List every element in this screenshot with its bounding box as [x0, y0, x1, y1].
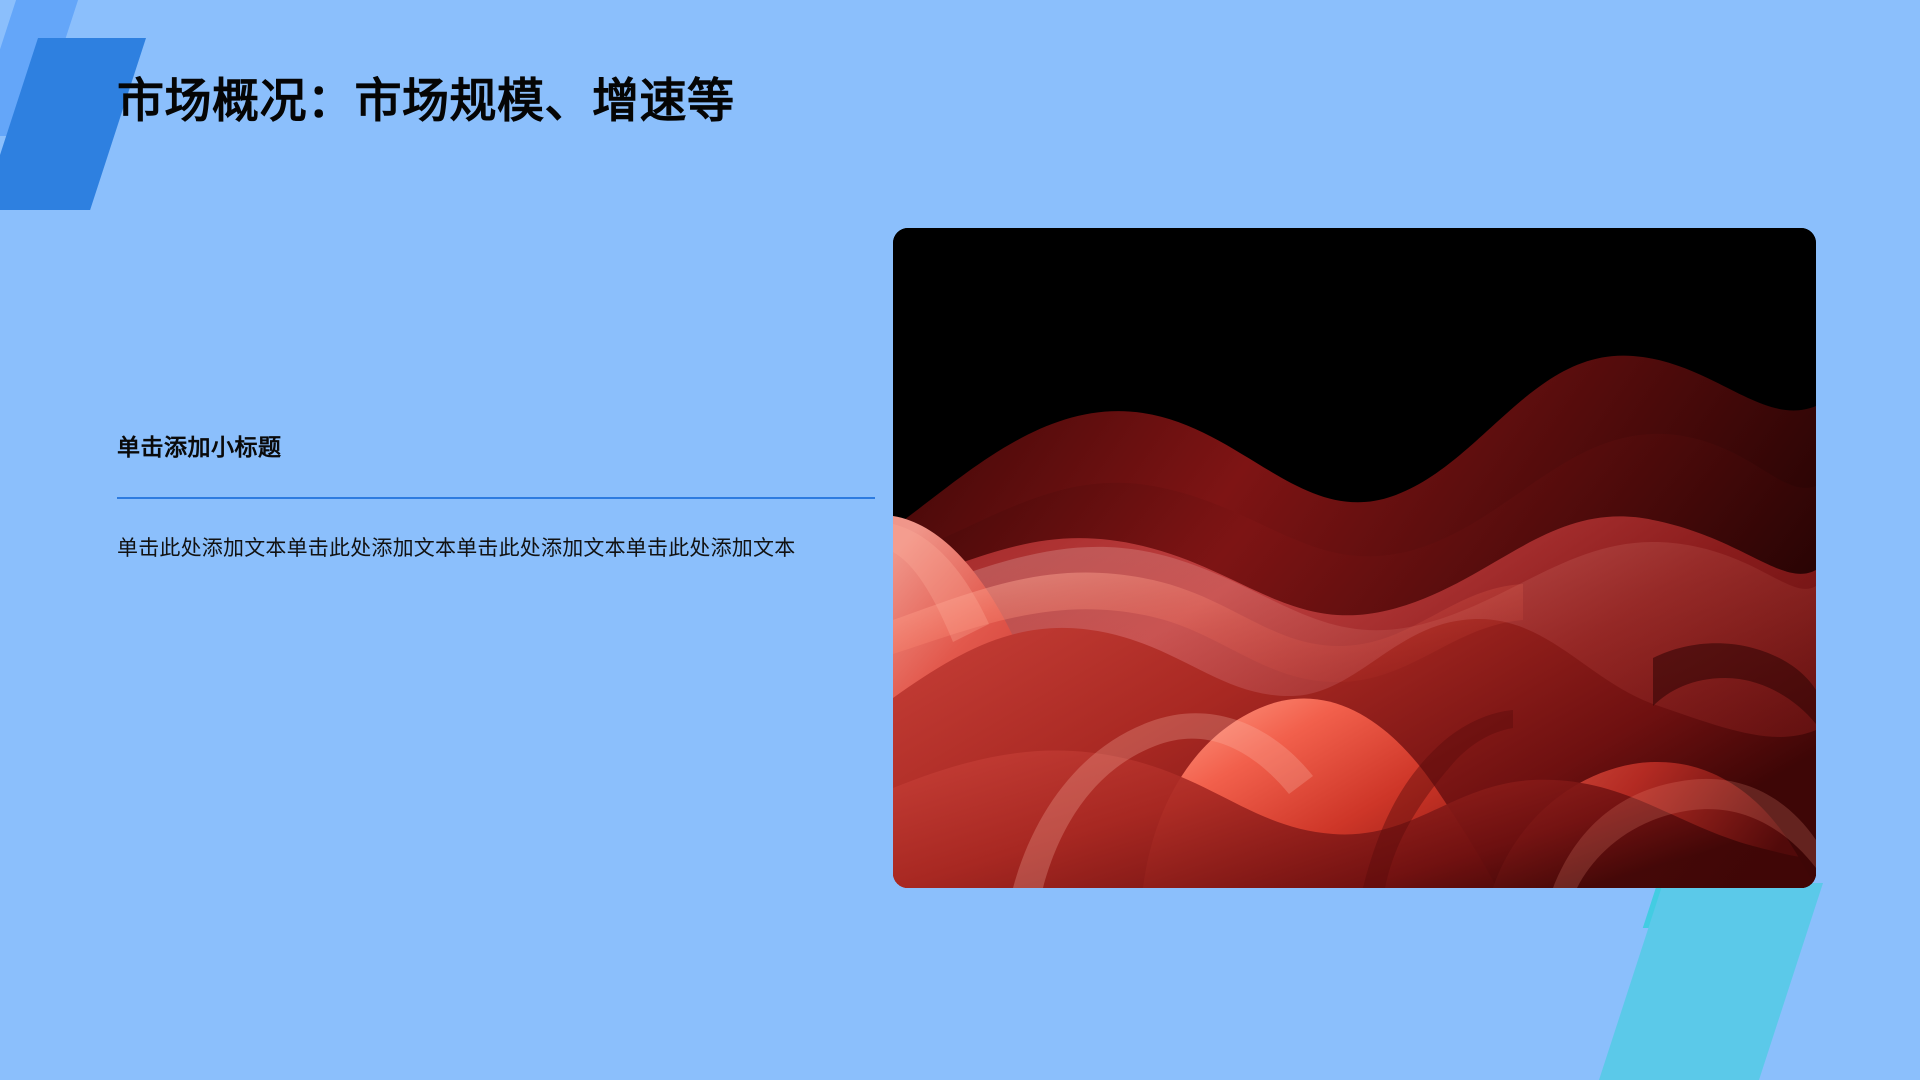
abstract-red-wave-image[interactable]: [893, 228, 1816, 888]
presentation-slide: 市场概况：市场规模、增速等 单击添加小标题 单击此处添加文本单击此处添加文本单击…: [0, 0, 1920, 1080]
decor-parallelogram-bottom-right-lower: [1595, 883, 1823, 1080]
body-paragraph[interactable]: 单击此处添加文本单击此处添加文本单击此处添加文本单击此处添加文本: [117, 532, 817, 566]
text-content-block: 单击添加小标题 单击此处添加文本单击此处添加文本单击此处添加文本单击此处添加文本: [117, 433, 829, 566]
slide-title[interactable]: 市场概况：市场规模、增速等: [117, 72, 735, 131]
red-wave-graphic: [893, 228, 1816, 888]
horizontal-divider: [117, 497, 875, 499]
section-subtitle[interactable]: 单击添加小标题: [117, 433, 829, 463]
